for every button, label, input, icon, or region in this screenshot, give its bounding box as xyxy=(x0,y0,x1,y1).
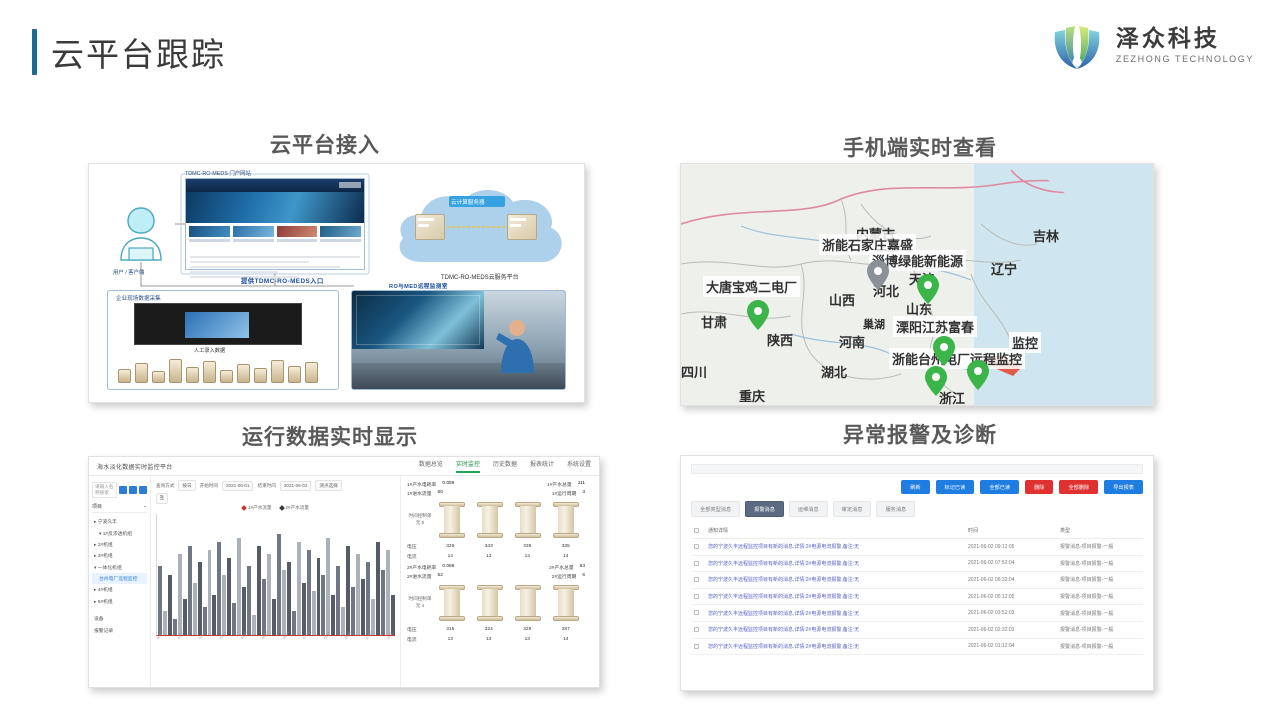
alarm-table-row[interactable]: 您的宁波久丰远程监控项目有新的消息,详情:2#电源电流报警,备注:无2021-0… xyxy=(691,621,1143,638)
alarm-table[interactable]: 通知详情 时间 类型 您的宁波久丰远程监控项目有新的消息,详情:2#电源电流报警… xyxy=(691,523,1143,655)
section-heading-cloud-access: 云平台接入 xyxy=(120,129,530,159)
unit2-voltage-3: 287 xyxy=(547,627,586,632)
tree-node[interactable]: ▸ 3#机组 xyxy=(92,550,147,561)
alarm-time-cell: 2021-06-02 06:32:04 xyxy=(965,572,1057,589)
alarm-breadcrumb-bar xyxy=(691,464,1143,474)
process-flow-icons xyxy=(118,353,330,383)
tree-node[interactable]: ▸ 5#机组 xyxy=(92,596,147,607)
user-label: 用户 / 客户端 xyxy=(113,268,144,276)
chart-tool-label-start: 开始时间 xyxy=(200,483,218,489)
tree-node-label: 台州电厂远程监控 xyxy=(99,577,137,582)
unit2-voltage-2: 329 xyxy=(508,627,547,632)
chart-tool-start-date[interactable]: 2021-06-01 xyxy=(222,481,254,491)
row-checkbox-cell[interactable] xyxy=(691,605,705,622)
chart-bar xyxy=(361,579,365,635)
chart-bar xyxy=(371,599,375,635)
chart-bar xyxy=(346,546,350,635)
tree-toolbar[interactable]: 请输入名称搜索 xyxy=(92,482,147,498)
unit1-current-3: 14 xyxy=(547,554,586,559)
alarm-table-row[interactable]: 您的宁波久丰远程监控项目有新的消息,详情:2#电源电流报警,备注:无2021-0… xyxy=(691,638,1143,655)
chart-tool-period-select[interactable]: 按日 xyxy=(178,480,195,491)
alarm-table-row[interactable]: 您的宁波久丰远程监控项目有新的消息,详情:2#电源电流报警,备注:无2021-0… xyxy=(691,555,1143,572)
alarm-detail-cell[interactable]: 您的宁波久丰远程监控项目有新的消息,详情:2#电源电流报警,备注:无 xyxy=(705,588,965,605)
unit1-current-row: 电流 14 13 13 14 xyxy=(407,553,585,560)
trend-chart-plot xyxy=(156,514,395,636)
alarm-type-cell: 报警消息-项目报警-一般 xyxy=(1057,555,1143,572)
tree-node-label: 报警记录 xyxy=(94,629,113,634)
unit1-current-0: 14 xyxy=(431,554,470,559)
unit2-current-1: 13 xyxy=(470,637,509,642)
map-site-liyang[interactable]: 溧阳江苏富春 xyxy=(893,316,977,337)
unit1-side-label-text: 时间控制单元 xyxy=(409,513,432,525)
alarm-button-导出报表[interactable]: 导出报表 xyxy=(1104,480,1143,494)
chart-bar xyxy=(277,534,281,635)
map-site-baoji[interactable]: 大唐宝鸡二电厂 xyxy=(703,276,800,297)
chart-tool-label-end: 结束时间 xyxy=(257,483,275,489)
chart-bar xyxy=(321,575,325,636)
alarm-tab-运维消息[interactable]: 运维消息 xyxy=(789,501,828,517)
unit2-metric-value-1: 63 xyxy=(580,564,585,571)
map-pin-liyang[interactable] xyxy=(933,336,955,366)
unit2-current-3: 14 xyxy=(547,637,586,642)
map-pin-zhejiang[interactable] xyxy=(967,360,989,390)
chart-bars xyxy=(157,514,395,635)
unit1-voltage-row: 电压 326 343 338 335 xyxy=(407,543,585,550)
unit1-voltage-label: 电压 xyxy=(407,543,431,550)
portal-entry-label: 提供TDMC-RO-MEDS入口 xyxy=(241,276,324,285)
map-site-jiankong[interactable]: 监控 xyxy=(1009,332,1041,353)
chart-bar xyxy=(317,558,321,635)
chart-bar xyxy=(237,538,241,635)
nav-item-settings[interactable]: 系统设置 xyxy=(567,459,591,473)
page-title-text: 云平台跟踪 xyxy=(51,28,226,76)
alarm-table-row[interactable]: 您的宁波久丰远程监控项目有新的消息,详情:2#电源电流报警,备注:无2021-0… xyxy=(691,539,1143,556)
chart-bar xyxy=(292,611,296,635)
dashboard-brand: 海水淡化数据实时监控平台 xyxy=(97,462,173,471)
map-label-hubei: 湖北 xyxy=(821,362,847,381)
spool-icon xyxy=(477,502,503,538)
chart-bar xyxy=(272,599,276,635)
chart-bar xyxy=(356,554,360,635)
tree-node-label: 设备 xyxy=(94,617,104,622)
chart-tool-end-date[interactable]: 2021-06-02 xyxy=(280,481,312,491)
chevron-down-icon[interactable]: ⌄ xyxy=(143,503,147,510)
alarm-col-type: 类型 xyxy=(1057,523,1143,539)
tree-node[interactable]: ▾ 1#反渗透机组 xyxy=(92,527,147,538)
alarm-table-row[interactable]: 您的宁波久丰远程监控项目有新的消息,详情:2#电源电流报警,备注:无2021-0… xyxy=(691,572,1143,589)
alarm-type-cell: 报警消息-项目报警-一般 xyxy=(1057,539,1143,556)
alarm-button-全部删除[interactable]: 全部删除 xyxy=(1059,480,1098,494)
unit2-voltage-label: 电压 xyxy=(407,626,431,633)
section-heading-realtime-data: 运行数据实时显示 xyxy=(120,421,540,451)
row-checkbox[interactable] xyxy=(694,577,699,582)
alarm-time-cell: 2021-06-02 05:12:05 xyxy=(965,588,1057,605)
alarm-tab-服务消息[interactable]: 服务消息 xyxy=(876,501,915,517)
china-map[interactable]: 内蒙古 吉林 辽宁 河北 山西 天津 甘肃 陕西 河南 山东 湖北 重庆 四川 … xyxy=(681,164,1153,405)
alarm-tab-审定消息[interactable]: 审定消息 xyxy=(833,501,872,517)
unit2-spools xyxy=(433,585,585,621)
legend-label-2: 2#产水流量 xyxy=(286,505,310,511)
chart-bar xyxy=(232,603,236,635)
legend-item-1[interactable]: 1#产水流量 xyxy=(242,505,272,511)
tree-node-label: 2#机组 xyxy=(98,543,113,548)
unit2-voltage-row: 电压 315 324 329 287 xyxy=(407,626,585,633)
chart-bar xyxy=(217,542,221,635)
alarm-type-tabs[interactable]: 全部类型消息报警消息运维消息审定消息服务消息 xyxy=(691,501,1143,517)
tree-node[interactable]: 设备 xyxy=(92,613,147,624)
row-checkbox-cell[interactable] xyxy=(691,638,705,655)
mobile-realtime-map-panel[interactable]: 内蒙古 吉林 辽宁 河北 山西 天津 甘肃 陕西 河南 山东 湖北 重庆 四川 … xyxy=(680,163,1154,406)
legend-item-2[interactable]: 2#产水流量 xyxy=(280,505,310,511)
alarm-table-header-row: 通知详情 时间 类型 xyxy=(691,523,1143,539)
portal-website-screenshot xyxy=(185,178,365,270)
unit2-side-label: 时间控制单元 4 xyxy=(407,596,433,610)
cloud-icon: 云计算服务器 xyxy=(389,180,574,276)
unit2-metric-label-1: 2#产水总量 xyxy=(549,564,574,571)
chart-bar xyxy=(381,570,385,635)
chart-bar xyxy=(212,595,216,635)
tree-node[interactable]: ▸ 2#机组 xyxy=(92,539,147,550)
row-checkbox[interactable] xyxy=(694,561,699,566)
alarm-time-cell: 2021-06-02 07:52:04 xyxy=(965,555,1057,572)
alarm-detail-cell[interactable]: 您的宁波久丰远程监控项目有新的消息,详情:2#电源电流报警,备注:无 xyxy=(705,605,965,622)
alarm-time-cell: 2021-06-02 09:12:05 xyxy=(965,539,1057,556)
legend-label-1: 1#产水流量 xyxy=(248,505,272,511)
chart-bar xyxy=(242,587,246,635)
row-checkbox-cell[interactable] xyxy=(691,621,705,638)
alarm-button-标记已读[interactable]: 标记已读 xyxy=(936,480,975,494)
select-all-checkbox[interactable] xyxy=(694,528,699,533)
user-icon xyxy=(115,204,167,264)
cloud-access-diagram-panel: 用户 / 客户端 TDMC-RO-MEDS 门户网站 提供TDMC-RO-MED… xyxy=(88,163,585,403)
chart-bar xyxy=(262,579,266,635)
chart-toolbar[interactable]: 查询方式 按日 开始时间 2021-06-01 结束时间 2021-06-02 … xyxy=(156,480,395,491)
chart-bar xyxy=(158,566,162,635)
alarm-type-cell: 报警消息-项目报警-一般 xyxy=(1057,621,1143,638)
unit1-voltage-3: 335 xyxy=(547,544,586,549)
alarm-detail-cell[interactable]: 您的宁波久丰远程监控项目有新的消息,详情:2#电源电流报警,备注:无 xyxy=(705,572,965,589)
brand-text: 泽众科技 ZEZHONG TECHNOLOGY xyxy=(1116,26,1254,64)
chart-export-icon[interactable]: ⎘ xyxy=(156,493,168,504)
row-checkbox[interactable] xyxy=(694,610,699,615)
unit1-metric-label-1: 1#产水总量 xyxy=(547,481,572,488)
nav-item-history[interactable]: 历史数据 xyxy=(493,459,517,473)
unit2-current-label: 电流 xyxy=(407,636,431,643)
unit1-current-2: 13 xyxy=(508,554,547,559)
map-label-sichuan: 四川 xyxy=(681,362,707,381)
slide-root: 云平台跟踪 xyxy=(0,0,1280,720)
chart-bar xyxy=(282,570,286,635)
map-pin-gray[interactable] xyxy=(867,260,889,290)
brand-logo: 泽众科技 ZEZHONG TECHNOLOGY xyxy=(1048,16,1254,74)
chart-bar xyxy=(222,575,226,636)
tree-node[interactable]: 报警记录 xyxy=(92,624,147,635)
realtime-data-dashboard-panel[interactable]: 海水淡化数据实时监控平台 数据总览 实时监控 历史数据 报表统计 系统设置 请输… xyxy=(88,456,600,688)
unit2-current-row: 电流 13 13 13 14 xyxy=(407,636,585,643)
chart-bar xyxy=(247,566,251,635)
chart-bar xyxy=(391,595,395,635)
chart-bar xyxy=(267,554,271,635)
section-heading-mobile-view: 手机端实时查看 xyxy=(700,132,1140,162)
tree-node-label: 3#机组 xyxy=(98,554,113,559)
alarm-detail-cell[interactable]: 您的宁波久丰远程监控项目有新的消息,详情:2#电源电流报警,备注:无 xyxy=(705,638,965,655)
unit2-metrics-row2: 2#进水流量52 2#运行周期6 xyxy=(407,573,585,580)
map-label-chongqing: 重庆 xyxy=(739,386,765,405)
alarm-time-cell: 2021-06-02 02:32:03 xyxy=(965,621,1057,638)
chart-bar xyxy=(331,595,335,635)
alarm-time-cell: 2021-06-02 03:52:03 xyxy=(965,605,1057,622)
unit1-measurements: 电压 326 343 338 335 电流 14 13 xyxy=(407,543,585,560)
chart-bar xyxy=(302,583,306,635)
unit2-current-2: 13 xyxy=(508,637,547,642)
alarm-type-cell: 报警消息-项目报警-一般 xyxy=(1057,638,1143,655)
tree-add-icon[interactable] xyxy=(119,486,127,494)
chart-bar xyxy=(307,550,311,635)
alarm-tab-报警消息[interactable]: 报警消息 xyxy=(745,501,784,517)
tree-header: 项目 ⌄ xyxy=(92,503,147,513)
unit2-metric-value-3: 6 xyxy=(582,573,585,580)
map-label-gansu: 甘肃 xyxy=(701,312,727,331)
unit2-metric-value-0: 0.086 xyxy=(442,564,454,571)
control-caption: 企业现场数据采集 xyxy=(116,294,161,302)
tree-node-label: 5#机组 xyxy=(98,600,113,605)
page-title: 云平台跟踪 xyxy=(32,28,226,76)
chart-bar xyxy=(336,566,340,635)
chart-bar xyxy=(366,562,370,635)
map-pin-baoji[interactable] xyxy=(747,300,769,330)
chart-bar xyxy=(173,619,177,635)
cloud-caption: TDMC-RO-MEDS云服务平台 xyxy=(441,272,519,281)
row-checkbox-cell[interactable] xyxy=(691,555,705,572)
dashboard-header: 海水淡化数据实时监控平台 数据总览 实时监控 历史数据 报表统计 系统设置 xyxy=(89,457,599,476)
unit1-voltage-1: 343 xyxy=(470,544,509,549)
dashboard-main: 查询方式 按日 开始时间 2021-06-01 结束时间 2021-06-02 … xyxy=(151,476,599,687)
chart-bar xyxy=(208,550,212,635)
tree-node[interactable]: ▾ 一体化机组 xyxy=(92,562,147,573)
tree-node-label: 4#机组 xyxy=(98,588,113,593)
unit2-voltage-0: 315 xyxy=(431,627,470,632)
alarm-detail-cell[interactable]: 您的宁波久丰远程监控项目有新的消息,详情:2#电源电流报警,备注:无 xyxy=(705,555,965,572)
tree-header-label: 项目 xyxy=(92,503,102,510)
tree-node-label: 一体化机组 xyxy=(98,566,122,571)
spool-icon xyxy=(553,585,579,621)
chart-bar xyxy=(168,575,172,636)
row-checkbox[interactable] xyxy=(694,594,699,599)
chart-bar xyxy=(227,558,231,635)
chart-bar xyxy=(287,562,291,635)
unit1-side-label: 时间控制单元 6 xyxy=(407,513,433,527)
unit2-metric-value-2: 52 xyxy=(438,573,443,580)
map-label-shaanxi: 陕西 xyxy=(767,330,793,349)
chart-tool-label-query: 查询方式 xyxy=(156,483,174,489)
alarm-message-center[interactable]: 刷新标记已读全部已读删除全部删除导出报表 全部类型消息报警消息运维消息审定消息服… xyxy=(681,456,1153,690)
alarm-action-buttons[interactable]: 刷新标记已读全部已读删除全部删除导出报表 xyxy=(691,480,1143,494)
portal-caption: TDMC-RO-MEDS 门户网站 xyxy=(185,169,251,177)
alarm-type-cell: 报警消息-项目报警-一般 xyxy=(1057,588,1143,605)
alarm-button-删除[interactable]: 删除 xyxy=(1025,480,1053,494)
operator-figure-icon xyxy=(493,317,539,373)
unit1-metrics-row1: 1#产水电耗率0.059 1#产水总量111 xyxy=(407,481,585,488)
nav-item-report[interactable]: 报表统计 xyxy=(530,459,554,473)
brand-name-en: ZEZHONG TECHNOLOGY xyxy=(1116,54,1254,64)
unit1-current-label: 电流 xyxy=(407,553,431,560)
project-tree-sidebar[interactable]: 请输入名称搜索 项目 ⌄ ▸ 宁波久丰 ▾ 1#反渗透机组 ▸ 2#机组 ▸ 3… xyxy=(89,476,151,687)
chart-tool-point-select[interactable]: 测点选择 xyxy=(315,480,341,491)
row-checkbox-cell[interactable] xyxy=(691,572,705,589)
spool-icon xyxy=(439,585,465,621)
unit2-side-value: 4 xyxy=(422,603,425,608)
architecture-diagram: 用户 / 客户端 TDMC-RO-MEDS 门户网站 提供TDMC-RO-MED… xyxy=(89,164,584,402)
unit1-metric-label-3: 1#运行周期 xyxy=(552,490,577,497)
unit2-side-label-text: 时间控制单元 xyxy=(409,596,432,608)
title-accent-bar xyxy=(32,29,37,75)
chart-bar xyxy=(178,554,182,635)
brand-name-cn: 泽众科技 xyxy=(1116,26,1254,51)
tree-edit-icon[interactable] xyxy=(129,486,137,494)
unit1-voltage-0: 326 xyxy=(431,544,470,549)
unit2-voltage-1: 324 xyxy=(470,627,509,632)
unit-group-2: 2#产水电耗率0.086 2#产水总量63 2#进水流量52 2#运行周期6 时… xyxy=(407,564,585,643)
unit2-metric-label-0: 2#产水电耗率 xyxy=(407,564,436,571)
row-checkbox-cell[interactable] xyxy=(691,539,705,556)
alarm-table-row[interactable]: 您的宁波久丰远程监控项目有新的消息,详情:2#电源电流报警,备注:无2021-0… xyxy=(691,588,1143,605)
map-pin-taizhou[interactable] xyxy=(925,366,947,396)
tree-delete-icon[interactable] xyxy=(139,486,147,494)
unit2-measurements: 电压 315 324 329 287 电流 13 13 xyxy=(407,626,585,643)
map-label-chaohu: 巢湖 xyxy=(863,316,885,332)
alarm-detail-cell[interactable]: 您的宁波久丰远程监控项目有新的消息,详情:2#电源电流报警,备注:无 xyxy=(705,539,965,556)
chart-bar xyxy=(257,546,261,635)
unit1-current-1: 13 xyxy=(470,554,509,559)
tree-node[interactable]: ▸ 4#机组 xyxy=(92,584,147,595)
map-label-shanxi: 山西 xyxy=(829,290,855,309)
nav-item-realtime[interactable]: 实时监控 xyxy=(456,459,480,473)
chart-bar xyxy=(252,615,256,635)
cloud-title-label: 云计算服务器 xyxy=(451,198,485,206)
alarm-time-cell: 2021-06-02 01:12:04 xyxy=(965,638,1057,655)
dashboard-nav[interactable]: 数据总览 实时监控 历史数据 报表统计 系统设置 xyxy=(419,459,591,473)
unit2-metric-label-3: 2#运行周期 xyxy=(552,573,577,580)
chart-bar xyxy=(326,538,330,635)
alarm-type-cell: 报警消息-项目报警-一般 xyxy=(1057,572,1143,589)
alarm-button-刷新[interactable]: 刷新 xyxy=(901,480,929,494)
map-site-taizhou[interactable]: 浙能台州电厂远程监控 xyxy=(889,348,1025,369)
unit2-metrics-row1: 2#产水电耗率0.086 2#产水总量63 xyxy=(407,564,585,571)
chart-bar xyxy=(386,550,390,635)
row-checkbox-cell[interactable] xyxy=(691,588,705,605)
unit1-side-value: 6 xyxy=(422,520,425,525)
row-checkbox[interactable] xyxy=(694,644,699,649)
alarm-tab-全部类型消息[interactable]: 全部类型消息 xyxy=(691,501,740,517)
tree-node-label: 宁波久丰 xyxy=(98,520,117,525)
photo-caption: RO与MED远程监测室 xyxy=(389,282,448,290)
chart-bar xyxy=(312,591,316,635)
alarm-button-全部已读[interactable]: 全部已读 xyxy=(980,480,1019,494)
row-checkbox[interactable] xyxy=(694,627,699,632)
trend-chart-column[interactable]: 查询方式 按日 开始时间 2021-06-01 结束时间 2021-06-02 … xyxy=(151,476,401,687)
unit-status-column: 1#产水电耗率0.059 1#产水总量111 1#进水流量60 1#运行周期3 … xyxy=(401,476,591,687)
alarm-col-detail: 通知详情 xyxy=(705,523,965,539)
chart-x-axis: 00:0001:0002:0003:0004:0005:0006:0007:00… xyxy=(156,638,395,642)
unit2-metric-label-2: 2#进水流量 xyxy=(407,573,432,580)
spool-icon xyxy=(477,585,503,621)
chart-bar xyxy=(341,607,345,635)
remote-monitoring-room-photo xyxy=(351,290,566,390)
alarm-type-cell: 报警消息-项目报警-一般 xyxy=(1057,605,1143,622)
tree-node-label: 1#反渗透机组 xyxy=(103,532,132,537)
spool-icon xyxy=(515,585,541,621)
chart-bar xyxy=(198,562,202,635)
map-pin-zibo[interactable] xyxy=(917,274,939,304)
chart-bar xyxy=(183,599,187,635)
map-label-henan: 河南 xyxy=(839,332,865,351)
tree-node-selected[interactable]: 台州电厂远程监控 xyxy=(92,573,147,584)
control-screen xyxy=(134,303,302,345)
row-checkbox[interactable] xyxy=(694,544,699,549)
dashboard-body: 请输入名称搜索 项目 ⌄ ▸ 宁波久丰 ▾ 1#反渗透机组 ▸ 2#机组 ▸ 3… xyxy=(89,476,599,687)
alarm-table-row[interactable]: 您的宁波久丰远程监控项目有新的消息,详情:2#电源电流报警,备注:无2021-0… xyxy=(691,605,1143,622)
unit1-metric-value-0: 0.059 xyxy=(442,481,454,488)
map-label-liaoning: 辽宁 xyxy=(991,259,1017,278)
tree-node[interactable]: ▸ 宁波久丰 xyxy=(92,516,147,527)
unit1-metric-value-2: 60 xyxy=(438,490,443,497)
unit-group-1: 1#产水电耗率0.059 1#产水总量111 1#进水流量60 1#运行周期3 … xyxy=(407,481,585,560)
unit1-metric-label-2: 1#进水流量 xyxy=(407,490,432,497)
onsite-data-collection-box: 企业现场数据采集 人工录入数据 xyxy=(107,290,339,390)
chart-bar xyxy=(376,542,380,635)
unit1-metric-value-3: 3 xyxy=(582,490,585,497)
unit2-current-0: 13 xyxy=(431,637,470,642)
spool-icon xyxy=(515,502,541,538)
monitoring-dashboard[interactable]: 海水淡化数据实时监控平台 数据总览 实时监控 历史数据 报表统计 系统设置 请输… xyxy=(89,457,599,687)
unit1-metric-value-1: 111 xyxy=(578,481,585,488)
unit1-voltage-2: 338 xyxy=(508,544,547,549)
alarm-diagnosis-panel[interactable]: 刷新标记已读全部已读删除全部删除导出报表 全部类型消息报警消息运维消息审定消息服… xyxy=(680,455,1154,691)
lotus-leaf-logo-icon xyxy=(1048,16,1106,74)
chart-bar xyxy=(193,583,197,635)
chart-bar xyxy=(297,542,301,635)
chart-bar xyxy=(351,587,355,635)
alarm-col-time: 时间 xyxy=(965,523,1057,539)
unit1-metrics-row2: 1#进水流量60 1#运行周期3 xyxy=(407,490,585,497)
unit1-spools xyxy=(433,502,585,538)
unit1-metric-label-0: 1#产水电耗率 xyxy=(407,481,436,488)
tree-search-input[interactable]: 请输入名称搜索 xyxy=(92,482,117,498)
chart-bar xyxy=(188,546,192,635)
alarm-select-all-cell[interactable] xyxy=(691,523,705,539)
map-label-jilin: 吉林 xyxy=(1033,226,1059,245)
spool-icon xyxy=(439,502,465,538)
chart-legend[interactable]: 1#产水流量 2#产水流量 xyxy=(156,505,395,511)
nav-item-overview[interactable]: 数据总览 xyxy=(419,459,443,473)
spool-icon xyxy=(553,502,579,538)
alarm-detail-cell[interactable]: 您的宁波久丰远程监控项目有新的消息,详情:2#电源电流报警,备注:无 xyxy=(705,621,965,638)
section-heading-alarm-diagnosis: 异常报警及诊断 xyxy=(700,419,1140,449)
